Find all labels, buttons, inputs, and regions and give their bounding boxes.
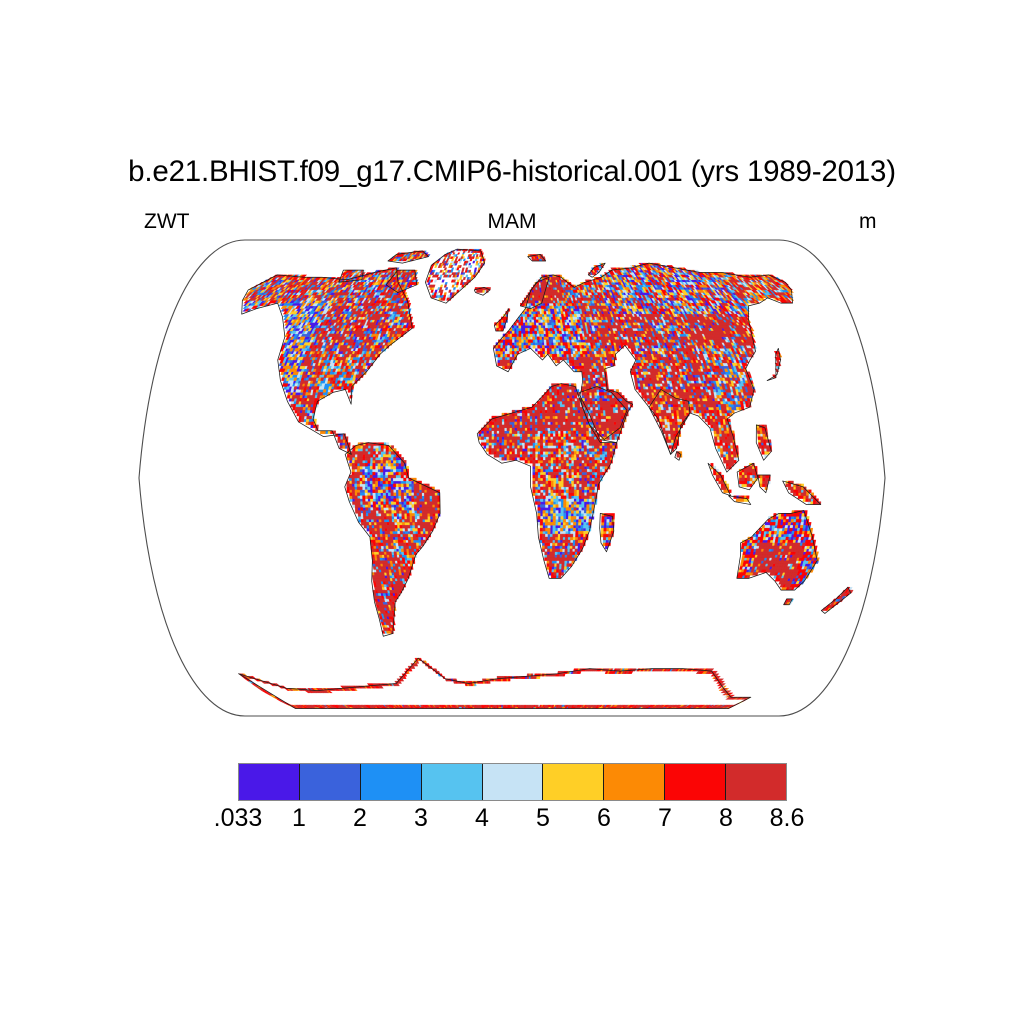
- page-title: b.e21.BHIST.f09_g17.CMIP6-historical.001…: [0, 157, 1024, 187]
- colorbar-segment-azure: [361, 764, 422, 800]
- colorbar-segment-medium-blue: [300, 764, 361, 800]
- colorbar-gradient: [238, 763, 787, 801]
- colorbar-segment-violet-blue: [239, 764, 300, 800]
- colorbar-tick-8: 8: [719, 806, 733, 831]
- world-map-svg: [128, 232, 896, 724]
- colorbar-tick-1: 1: [292, 806, 306, 831]
- map-plot-area: [128, 232, 896, 724]
- colorbar-segment-brick-red: [726, 764, 786, 800]
- units-label: m: [859, 211, 877, 232]
- colorbar-tick-9: 8.6: [770, 806, 805, 831]
- colorbar-tick-4: 4: [475, 806, 489, 831]
- climate-map-figure: b.e21.BHIST.f09_g17.CMIP6-historical.001…: [0, 0, 1024, 1024]
- colorbar: [238, 763, 787, 801]
- colorbar-tick-5: 5: [536, 806, 550, 831]
- colorbar-tick-6: 6: [597, 806, 611, 831]
- colorbar-segment-red: [665, 764, 726, 800]
- colorbar-tick-labels: .033123456788.6: [238, 806, 787, 836]
- colorbar-tick-2: 2: [353, 806, 367, 831]
- colorbar-segment-pale-ice-blue: [483, 764, 544, 800]
- colorbar-segment-orange: [604, 764, 665, 800]
- projection-outline: [139, 240, 885, 716]
- colorbar-tick-3: 3: [414, 806, 428, 831]
- colorbar-segment-sky-blue: [422, 764, 483, 800]
- colorbar-tick-7: 7: [658, 806, 672, 831]
- colorbar-tick-0: .033: [214, 806, 263, 831]
- colorbar-segment-golden-yellow: [543, 764, 604, 800]
